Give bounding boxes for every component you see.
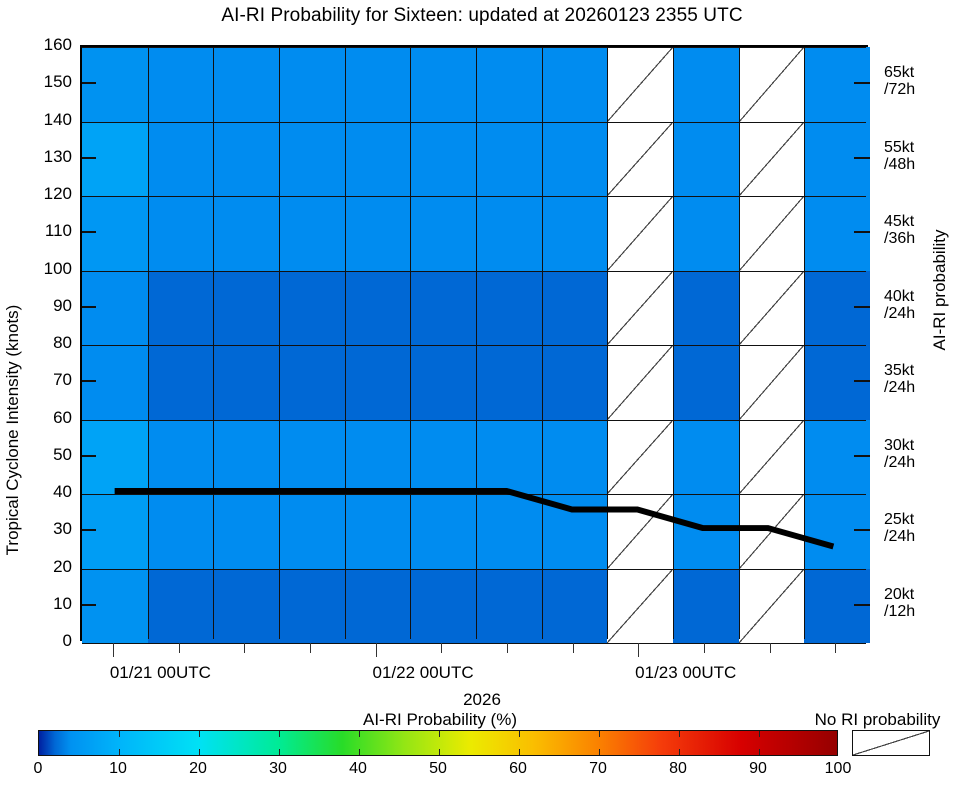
- y-axis-tick-label: 20: [28, 558, 72, 575]
- colorbar-tick-label: 90: [749, 760, 767, 778]
- colorbar-tick-label: 80: [669, 760, 687, 778]
- y-axis-tick-label: 130: [28, 148, 72, 165]
- y-axis-tick-label: 80: [28, 334, 72, 351]
- y-axis-tick-label: 90: [28, 297, 72, 314]
- colorbar-tick-mark: [439, 731, 440, 737]
- y-axis-tick-label: 100: [28, 260, 72, 277]
- y2-threshold-label: 25kt /24h: [884, 511, 915, 545]
- y-axis-tick-label: 160: [28, 36, 72, 53]
- x-axis-tick-mark: [441, 643, 442, 653]
- y2-axis-tick-mark: [854, 455, 870, 457]
- colorbar: [38, 730, 838, 756]
- colorbar-tick-label: 20: [189, 760, 207, 778]
- y-axis-tick-mark: [82, 231, 96, 233]
- colorbar-tick-label: 40: [349, 760, 367, 778]
- colorbar-tick-mark: [679, 731, 680, 737]
- y2-axis-tick-mark: [854, 157, 870, 159]
- colorbar-tick-label: 30: [269, 760, 287, 778]
- x-axis-title: 2026: [0, 690, 964, 710]
- y-axis-tick-label: 50: [28, 446, 72, 463]
- x-axis-tick-label: 01/21 00UTC: [110, 663, 211, 683]
- y2-threshold-label: 30kt /24h: [884, 437, 915, 471]
- y-axis-tick-label: 60: [28, 409, 72, 426]
- x-axis-tick-label: 01/22 00UTC: [373, 663, 474, 683]
- y2-axis-tick-mark: [854, 529, 870, 531]
- y-axis-tick-label: 40: [28, 483, 72, 500]
- colorbar-tick-mark: [519, 731, 520, 737]
- x-axis-tick-label: 01/23 00UTC: [635, 663, 736, 683]
- y-axis-tick-mark: [82, 157, 96, 159]
- colorbar-tick-mark: [119, 731, 120, 737]
- y2-axis-tick-mark: [854, 306, 870, 308]
- y-axis-tick-mark: [82, 306, 96, 308]
- x-axis-tick-mark: [573, 643, 574, 653]
- x-axis-tick-mark: [179, 643, 180, 653]
- y-axis-tick-label: 30: [28, 520, 72, 537]
- y-axis-tick-label: 120: [28, 185, 72, 202]
- intensity-track-line: [115, 491, 834, 547]
- colorbar-tick-mark: [199, 731, 200, 737]
- colorbar-tick-label: 50: [429, 760, 447, 778]
- page-title: AI-RI Probability for Sixteen: updated a…: [0, 5, 964, 27]
- y2-axis-tick-mark: [854, 82, 870, 84]
- x-axis-tick-mark: [638, 643, 639, 657]
- colorbar-tick-mark: [519, 749, 520, 755]
- y-axis-tick-label: 10: [28, 595, 72, 612]
- y2-threshold-label: 55kt /48h: [884, 139, 915, 173]
- y2-axis-tick-mark: [854, 604, 870, 606]
- y2-threshold-label: 45kt /36h: [884, 213, 915, 247]
- no-ri-probability-label: No RI probability: [790, 710, 964, 730]
- x-axis-tick-mark: [376, 643, 377, 657]
- y-axis-tick-mark: [82, 455, 96, 457]
- y-axis-tick-label: 140: [28, 111, 72, 128]
- y-axis-tick-mark: [82, 380, 96, 382]
- y2-axis-tick-mark: [854, 231, 870, 233]
- x-axis-tick-mark: [113, 643, 114, 657]
- x-axis-tick-mark: [704, 643, 705, 653]
- x-axis-tick-mark: [310, 643, 311, 653]
- colorbar-tick-label: 70: [589, 760, 607, 778]
- y-axis-tick-mark: [82, 529, 96, 531]
- intensity-track: [82, 47, 866, 639]
- y2-axis-title: AI-RI probability: [930, 150, 950, 430]
- gridline-horizontal: [82, 643, 866, 644]
- y2-threshold-label: 65kt /72h: [884, 64, 915, 98]
- y-axis-tick-label: 110: [28, 222, 72, 239]
- y-axis-tick-mark: [82, 82, 96, 84]
- x-axis-tick-mark: [770, 643, 771, 653]
- colorbar-tick-mark: [359, 749, 360, 755]
- colorbar-tick-mark: [359, 731, 360, 737]
- colorbar-tick-mark: [279, 749, 280, 755]
- y2-axis-tick-mark: [854, 380, 870, 382]
- no-ri-probability-swatch: [852, 730, 930, 756]
- colorbar-tick-mark: [759, 731, 760, 737]
- y-axis-tick-label: 150: [28, 73, 72, 90]
- y2-threshold-label: 20kt /12h: [884, 586, 915, 620]
- y2-threshold-label: 35kt /24h: [884, 362, 915, 396]
- colorbar-tick-mark: [759, 749, 760, 755]
- colorbar-tick-mark: [119, 749, 120, 755]
- colorbar-tick-label: 10: [109, 760, 127, 778]
- chart-root: AI-RI Probability for Sixteen: updated a…: [0, 0, 964, 786]
- colorbar-tick-mark: [599, 731, 600, 737]
- colorbar-tick-label: 100: [825, 760, 852, 778]
- y-axis-tick-label: 0: [28, 632, 72, 649]
- colorbar-title: AI-RI Probability (%): [0, 710, 880, 730]
- colorbar-tick-mark: [279, 731, 280, 737]
- y-axis-tick-mark: [82, 604, 96, 606]
- y2-threshold-label: 40kt /24h: [884, 288, 915, 322]
- colorbar-tick-label: 60: [509, 760, 527, 778]
- x-axis-tick-mark: [835, 643, 836, 653]
- colorbar-tick-label: 0: [34, 760, 43, 778]
- x-axis-tick-mark: [507, 643, 508, 653]
- colorbar-tick-mark: [679, 749, 680, 755]
- y-axis-title: Tropical Cyclone Intensity (knots): [3, 300, 23, 560]
- colorbar-tick-mark: [599, 749, 600, 755]
- y-axis-tick-label: 70: [28, 371, 72, 388]
- x-axis-tick-mark: [244, 643, 245, 653]
- colorbar-tick-mark: [199, 749, 200, 755]
- plot-area: [80, 45, 868, 641]
- colorbar-tick-mark: [439, 749, 440, 755]
